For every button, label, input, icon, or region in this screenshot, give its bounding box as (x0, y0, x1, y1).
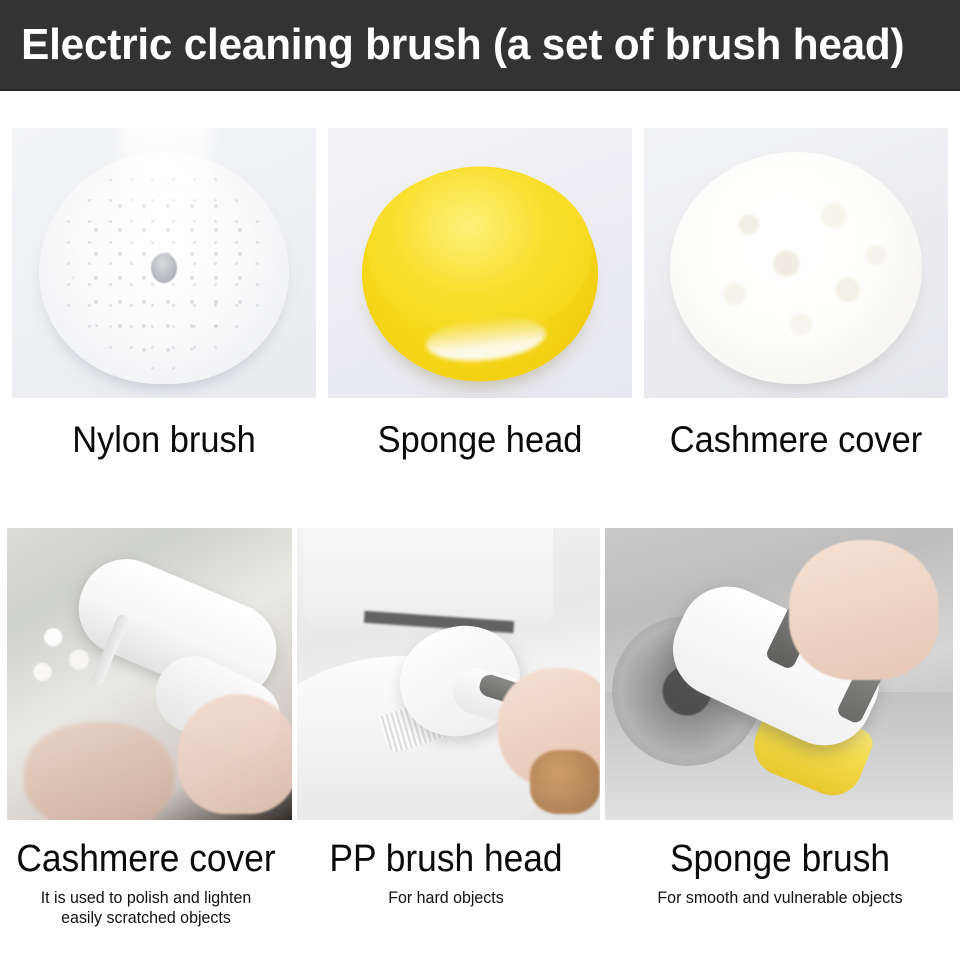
usage-title-sponge-brush: Sponge brush (613, 838, 948, 881)
product-photo-sponge-head[interactable] (328, 128, 632, 398)
header-banner: Electric cleaning brush (a set of brush … (0, 0, 960, 91)
usage-caption-sponge-brush: Sponge brush For smooth and vulnerable o… (600, 838, 960, 929)
cashmere-fluff-texture (678, 159, 915, 377)
usage-subtitle-line-1: For smooth and vulnerable objects (611, 888, 949, 909)
product-photo-cashmere-cover[interactable] (644, 128, 948, 398)
nylon-highlight (121, 128, 211, 267)
pp-brush-head-toilet-photo (297, 528, 600, 820)
usage-subtitle-line-1: For hard objects (301, 888, 591, 909)
cashmere-cover-in-use-photo (7, 528, 292, 820)
hand-lower (24, 722, 174, 820)
usage-photo-cashmere-cover[interactable] (7, 528, 292, 820)
product-heads-captions: Nylon brush Sponge head Cashmere cover (0, 418, 960, 480)
nylon-brush-head-photo (12, 128, 316, 398)
caption-cashmere-cover: Cashmere cover (655, 418, 938, 480)
page-title: Electric cleaning brush (a set of brush … (0, 23, 904, 67)
usage-title-pp-brush-head: PP brush head (303, 838, 589, 881)
cashmere-pad-shape (670, 152, 922, 384)
usage-photo-sponge-brush[interactable] (605, 528, 953, 820)
usage-subtitle-line-1: It is used to polish and lighten (9, 888, 283, 909)
product-heads-gallery (0, 128, 960, 400)
cashmere-cover-pad-photo (644, 128, 948, 398)
usage-caption-pp-brush-head: PP brush head For hard objects (292, 838, 600, 929)
usage-subtitle-pp-brush-head: For hard objects (301, 888, 591, 909)
usage-subtitle-line-2: easily scratched objects (9, 908, 283, 929)
toilet-tank (303, 528, 553, 625)
sponge-brush-sink-photo (605, 528, 953, 820)
usage-captions: Cashmere cover It is used to polish and … (0, 838, 960, 929)
yellow-sponge-head-photo (328, 128, 632, 398)
usage-gallery (7, 528, 953, 820)
hand-holding-device (178, 694, 292, 814)
usage-photo-pp-brush-head[interactable] (297, 528, 600, 820)
caption-sponge-head: Sponge head (339, 418, 622, 480)
usage-caption-cashmere-cover: Cashmere cover It is used to polish and … (0, 838, 292, 929)
background-object (530, 750, 600, 814)
caption-nylon-brush: Nylon brush (23, 418, 306, 480)
usage-title-cashmere-cover: Cashmere cover (10, 838, 282, 881)
hand-holding-device (789, 540, 939, 680)
sponge-disc-top-face (368, 168, 592, 336)
usage-subtitle-cashmere-cover: It is used to polish and lighten easily … (9, 888, 283, 929)
usage-subtitle-sponge-brush: For smooth and vulnerable objects (611, 888, 949, 909)
product-photo-nylon-brush[interactable] (12, 128, 316, 398)
